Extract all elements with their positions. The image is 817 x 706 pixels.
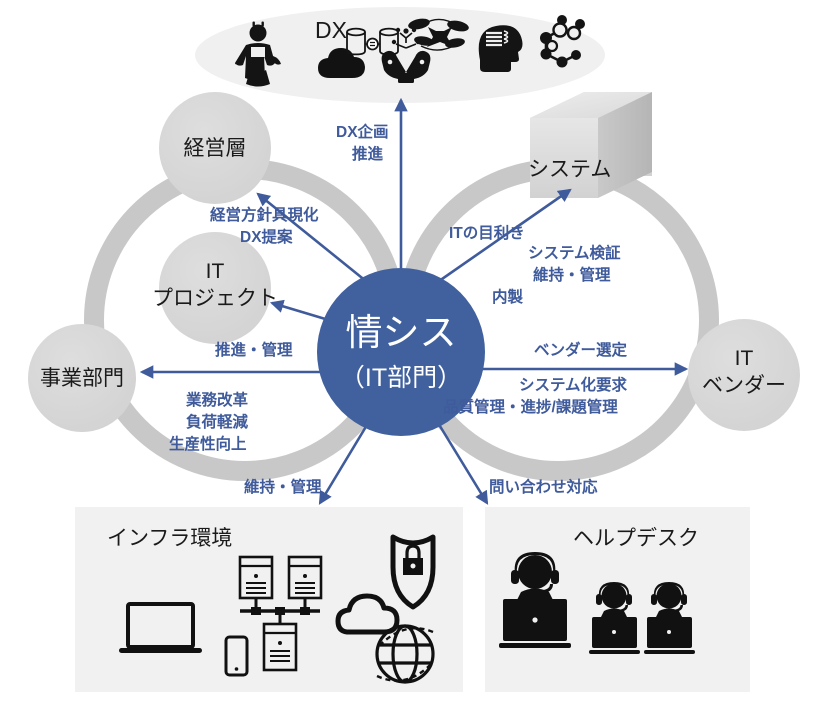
- edge-management-policy-line1: 経営方針具現化: [210, 205, 319, 224]
- edge-helpdesk-inquiry-line1: 問い合わせ対応: [489, 477, 598, 496]
- edge-business-reform-line1: 業務改革: [185, 390, 249, 409]
- edge-dx-planning-line1: DX企画: [336, 122, 389, 141]
- edge-vendor-selection-line1: ベンダー選定: [534, 340, 628, 359]
- edge-business-reform-line3: 生産性向上: [169, 434, 247, 453]
- node-system-label: システム: [528, 158, 611, 181]
- edge-system-requirements-line1: システム化要求: [519, 375, 628, 394]
- diagram-canvas: DX: [0, 0, 817, 706]
- dx-cluster: DX: [195, 7, 605, 103]
- edge-infra-maintenance-line1: 維持・管理: [244, 477, 322, 496]
- node-it-vendor-label-2: ベンダー: [702, 374, 786, 397]
- edge-system-verification-line2: 維持・管理: [533, 265, 611, 284]
- edge-management-policy-line2: DX提案: [240, 227, 293, 246]
- panel-infrastructure[interactable]: インフラ環境: [75, 507, 463, 692]
- edge-project-promotion-line1: 推進・管理: [215, 340, 293, 359]
- edge-in-house-line1: 内製: [492, 287, 524, 306]
- node-it-project[interactable]: IT プロジェクト: [152, 232, 278, 344]
- node-it-project-label-1: IT: [206, 260, 225, 283]
- node-business-dept[interactable]: 事業部門: [28, 324, 136, 432]
- panel-infrastructure-title: インフラ環境: [107, 527, 232, 550]
- dx-title: DX: [315, 17, 347, 43]
- panel-helpdesk[interactable]: ヘルプデスク: [485, 507, 750, 692]
- node-management-label: 経営層: [184, 137, 247, 160]
- edge-system-requirements-line2: 品質管理・進捗/課題管理: [443, 397, 618, 416]
- hub-label-sub: （IT部門）: [340, 364, 462, 392]
- edge-system-verification-line1: システム検証: [528, 243, 621, 262]
- edge-business-reform-line2: 負荷軽減: [186, 412, 249, 431]
- node-it-project-label-2: プロジェクト: [152, 287, 278, 310]
- node-it-vendor[interactable]: IT ベンダー: [688, 319, 800, 431]
- panel-helpdesk-title: ヘルプデスク: [573, 527, 699, 550]
- diagram-svg: DX: [0, 0, 817, 706]
- edge-it-discernment-line1: ITの目利き: [449, 223, 525, 242]
- node-business-dept-label: 事業部門: [40, 367, 124, 390]
- hub-label-main: 情シス: [346, 312, 457, 353]
- node-it-vendor-label-1: IT: [735, 347, 754, 370]
- edge-dx-planning-line2: 推進: [352, 144, 384, 163]
- node-management[interactable]: 経営層: [159, 92, 271, 204]
